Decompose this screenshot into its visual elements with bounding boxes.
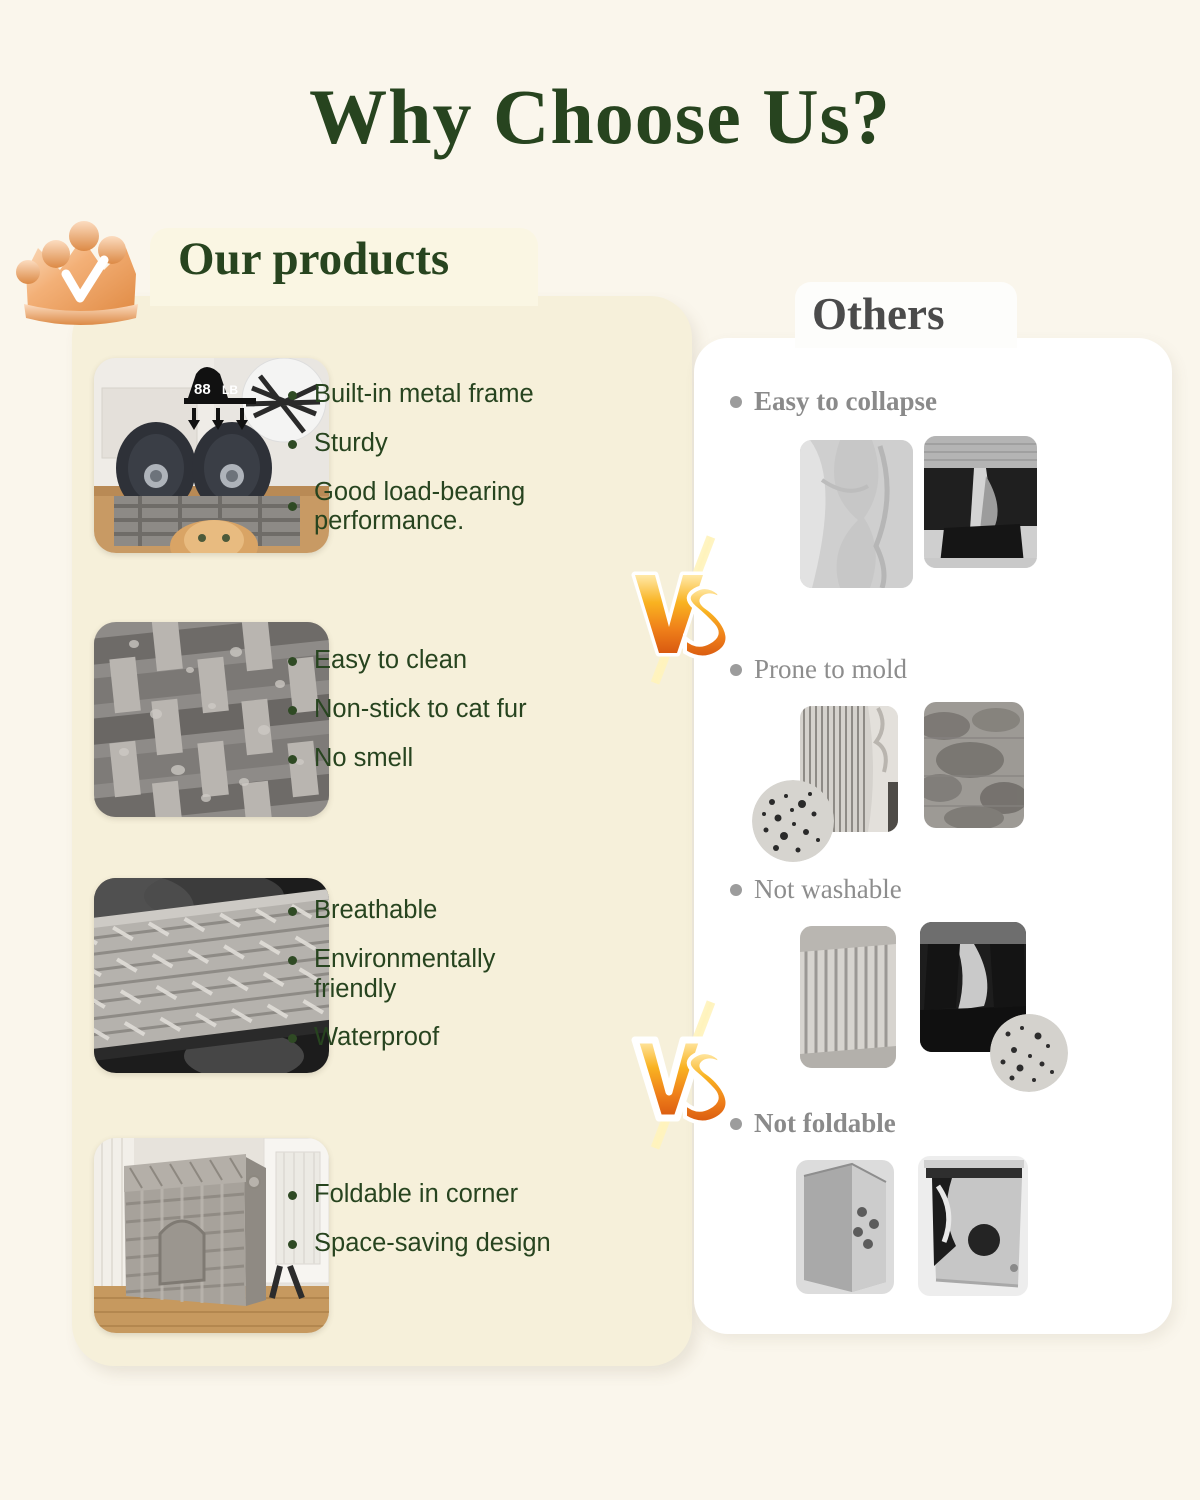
dirt-specks-circle-photo (990, 1014, 1068, 1092)
bullet-list-breathable: Breathable Environmentally friendly Wate… (284, 896, 604, 1072)
corrugated-fabric-photo (800, 926, 896, 1068)
rigid-box-photo (796, 1160, 894, 1294)
mold-spores-circle-photo (752, 780, 834, 862)
bullet-dot-icon (730, 396, 742, 408)
crown-icon (8, 214, 166, 330)
bullet-item: Foldable in corner (284, 1180, 604, 1210)
bullet-text: Foldable in corner (314, 1180, 518, 1208)
others-tab-label: Others (812, 288, 944, 340)
bullet-text: Environmentally friendly (314, 945, 495, 1003)
bullet-text: Sturdy (314, 429, 388, 457)
bullet-dot-icon (288, 907, 297, 916)
others-label-text: Not washable (754, 874, 902, 904)
bullet-list-metal-frame: Built-in metal frame Sturdy Good load-be… (284, 380, 604, 556)
infographic-page: Why Choose Us? Our products (0, 0, 1200, 1500)
bullet-text: Easy to clean (314, 646, 467, 674)
others-row-collapse: Easy to collapse (694, 386, 1172, 417)
bullet-dot-icon (288, 1034, 297, 1043)
weight-value: 88 (194, 381, 211, 398)
bullet-text: Breathable (314, 896, 437, 924)
others-label-text: Prone to mold (754, 654, 907, 684)
bullet-item: No smell (284, 744, 604, 774)
bullet-dot-icon (730, 884, 742, 896)
bullet-item: Space-saving design (284, 1229, 604, 1259)
bullet-item: Non-stick to cat fur (284, 695, 604, 725)
bullet-dot-icon (288, 956, 297, 965)
rigid-box-open-photo (918, 1156, 1028, 1296)
weight-unit: LB (222, 383, 238, 397)
page-title: Why Choose Us? (0, 72, 1200, 162)
others-row-washable: Not washable (694, 874, 1172, 905)
collapsing-tent-enclosure-photo (924, 436, 1037, 568)
bullet-item: Good load-bearing performance. (284, 478, 604, 538)
bullet-text: Waterproof (314, 1023, 439, 1051)
bullet-text: Space-saving design (314, 1229, 551, 1257)
others-row-foldable: Not foldable (694, 1108, 1172, 1139)
others-label-mold: Prone to mold (694, 654, 1172, 685)
bullet-item: Easy to clean (284, 646, 604, 676)
others-row-mold: Prone to mold (694, 654, 1172, 685)
others-label-collapse: Easy to collapse (694, 386, 1172, 417)
bullet-dot-icon (288, 502, 297, 511)
our-products-tab-label: Our products (178, 232, 449, 286)
others-label-foldable: Not foldable (694, 1108, 1172, 1139)
collapsed-fabric-photo (800, 440, 913, 588)
bullet-text: Good load-bearing performance. (314, 478, 525, 536)
others-label-text: Not foldable (754, 1108, 896, 1138)
bullet-dot-icon (288, 1240, 297, 1249)
bullet-dot-icon (288, 657, 297, 666)
bullet-list-easy-clean: Easy to clean Non-stick to cat fur No sm… (284, 646, 604, 792)
others-label-washable: Not washable (694, 874, 1172, 905)
bullet-item: Sturdy (284, 429, 604, 459)
bullet-item: Environmentally friendly (284, 945, 554, 1005)
bullet-text: No smell (314, 744, 413, 772)
bullet-item: Waterproof (284, 1023, 604, 1053)
bullet-dot-icon (288, 440, 297, 449)
others-label-text: Easy to collapse (754, 386, 937, 416)
bullet-dot-icon (288, 391, 297, 400)
vs-badge-top: VS (625, 535, 735, 685)
moldy-stained-surface-photo (924, 702, 1024, 828)
bullet-dot-icon (288, 706, 297, 715)
bullet-text: Non-stick to cat fur (314, 695, 527, 723)
vs-badge-bottom: VS (625, 1000, 735, 1150)
bullet-dot-icon (288, 1191, 297, 1200)
bullet-list-foldable: Foldable in corner Space-saving design (284, 1180, 604, 1278)
bullet-item: Built-in metal frame (284, 380, 604, 410)
bullet-text: Built-in metal frame (314, 380, 534, 408)
bullet-dot-icon (288, 755, 297, 764)
bullet-item: Breathable (284, 896, 604, 926)
